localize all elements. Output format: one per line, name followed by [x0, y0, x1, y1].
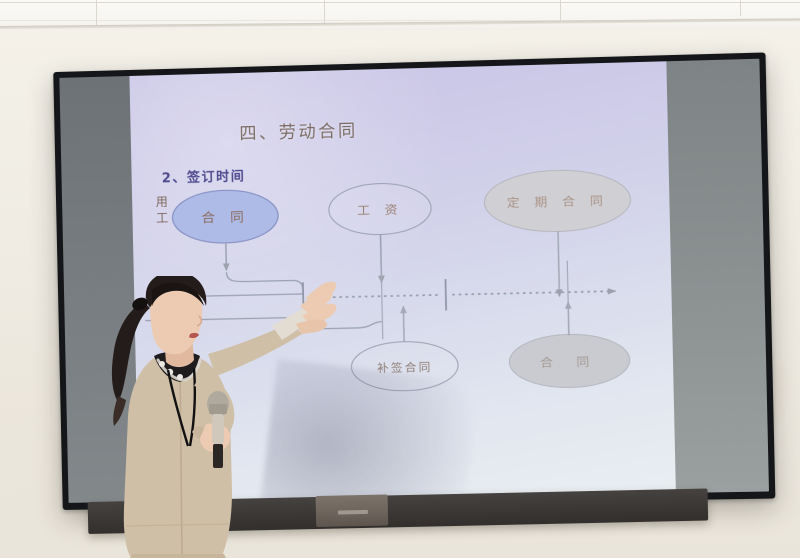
timeline-tick-3 — [567, 261, 569, 336]
timeline-tick-2 — [445, 279, 446, 310]
node-contract-top: 合 同 — [172, 189, 279, 244]
arrow-fixedterm-down — [558, 231, 559, 296]
node-supplementary-label: 补签合同 — [377, 360, 433, 375]
screen-right-panel — [666, 59, 769, 493]
pointing-hand — [296, 282, 336, 334]
arrow-supplementary-up — [403, 306, 404, 341]
node-fixed-term-label: 定 期 合 同 — [507, 193, 609, 210]
room-scene: 四、劳动合同 2、签订时间 用工 — [0, 0, 800, 558]
ceiling — [0, 0, 800, 34]
node-contract-top-label: 合 同 — [201, 209, 249, 226]
presenter — [96, 276, 346, 558]
node-supplementary: 补签合同 — [351, 341, 459, 392]
timeline-tick-wages-axis — [381, 265, 383, 339]
arrow-contract-down — [226, 243, 227, 270]
node-contract-bottom-label: 合 同 — [540, 354, 599, 370]
node-contract-bottom: 合 同 — [509, 333, 631, 388]
node-wages-label: 工 资 — [357, 203, 403, 218]
node-wages: 工 资 — [328, 182, 431, 235]
timeline-segment-2 — [452, 291, 615, 295]
node-fixed-term: 定 期 合 同 — [484, 169, 631, 233]
